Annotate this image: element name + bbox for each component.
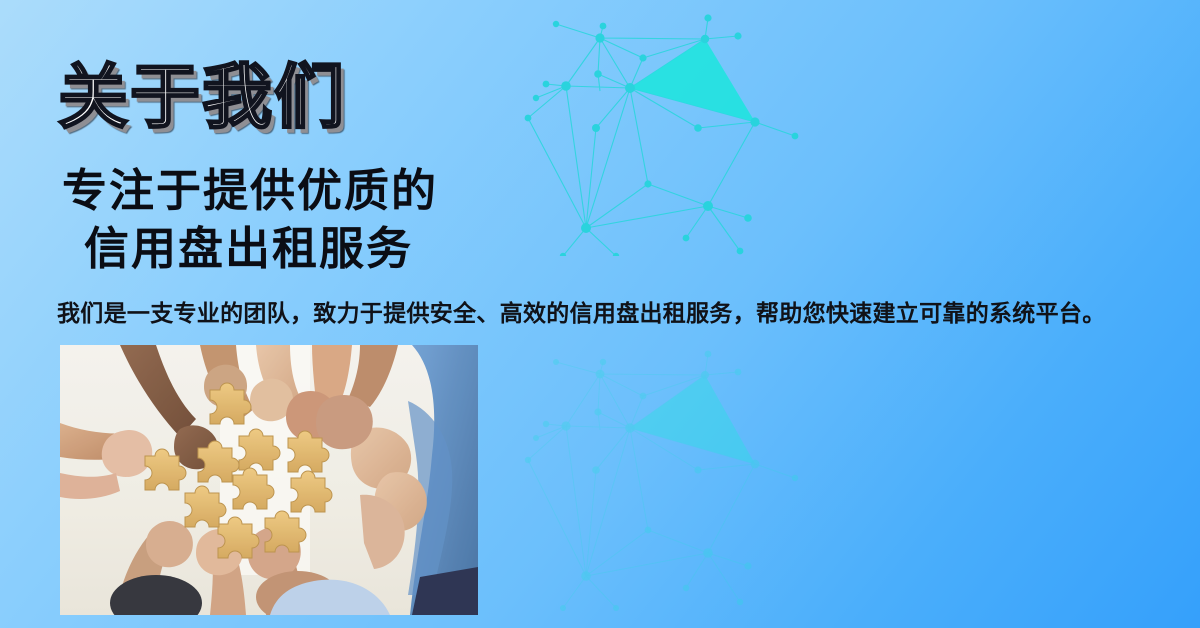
team-puzzle-image [60, 345, 478, 615]
subtitle-line-1: 专注于提供优质的 [62, 165, 438, 216]
team-photo [60, 345, 478, 615]
about-us-banner: 关于我们 专注于提供优质的 信用盘出租服务 我们是一支专业的团队，致力于提供安全… [0, 0, 1200, 628]
subtitle-line-2: 信用盘出租服务 [62, 220, 438, 278]
network-constellation-bottom-icon [508, 338, 838, 623]
subtitle: 专注于提供优质的 信用盘出租服务 [62, 162, 438, 278]
page-title: 关于我们 [58, 57, 346, 137]
description-text: 我们是一支专业的团队，致力于提供安全、高效的信用盘出租服务，帮助您快速建立可靠的… [57, 298, 1106, 328]
network-constellation-top-icon [508, 6, 838, 256]
